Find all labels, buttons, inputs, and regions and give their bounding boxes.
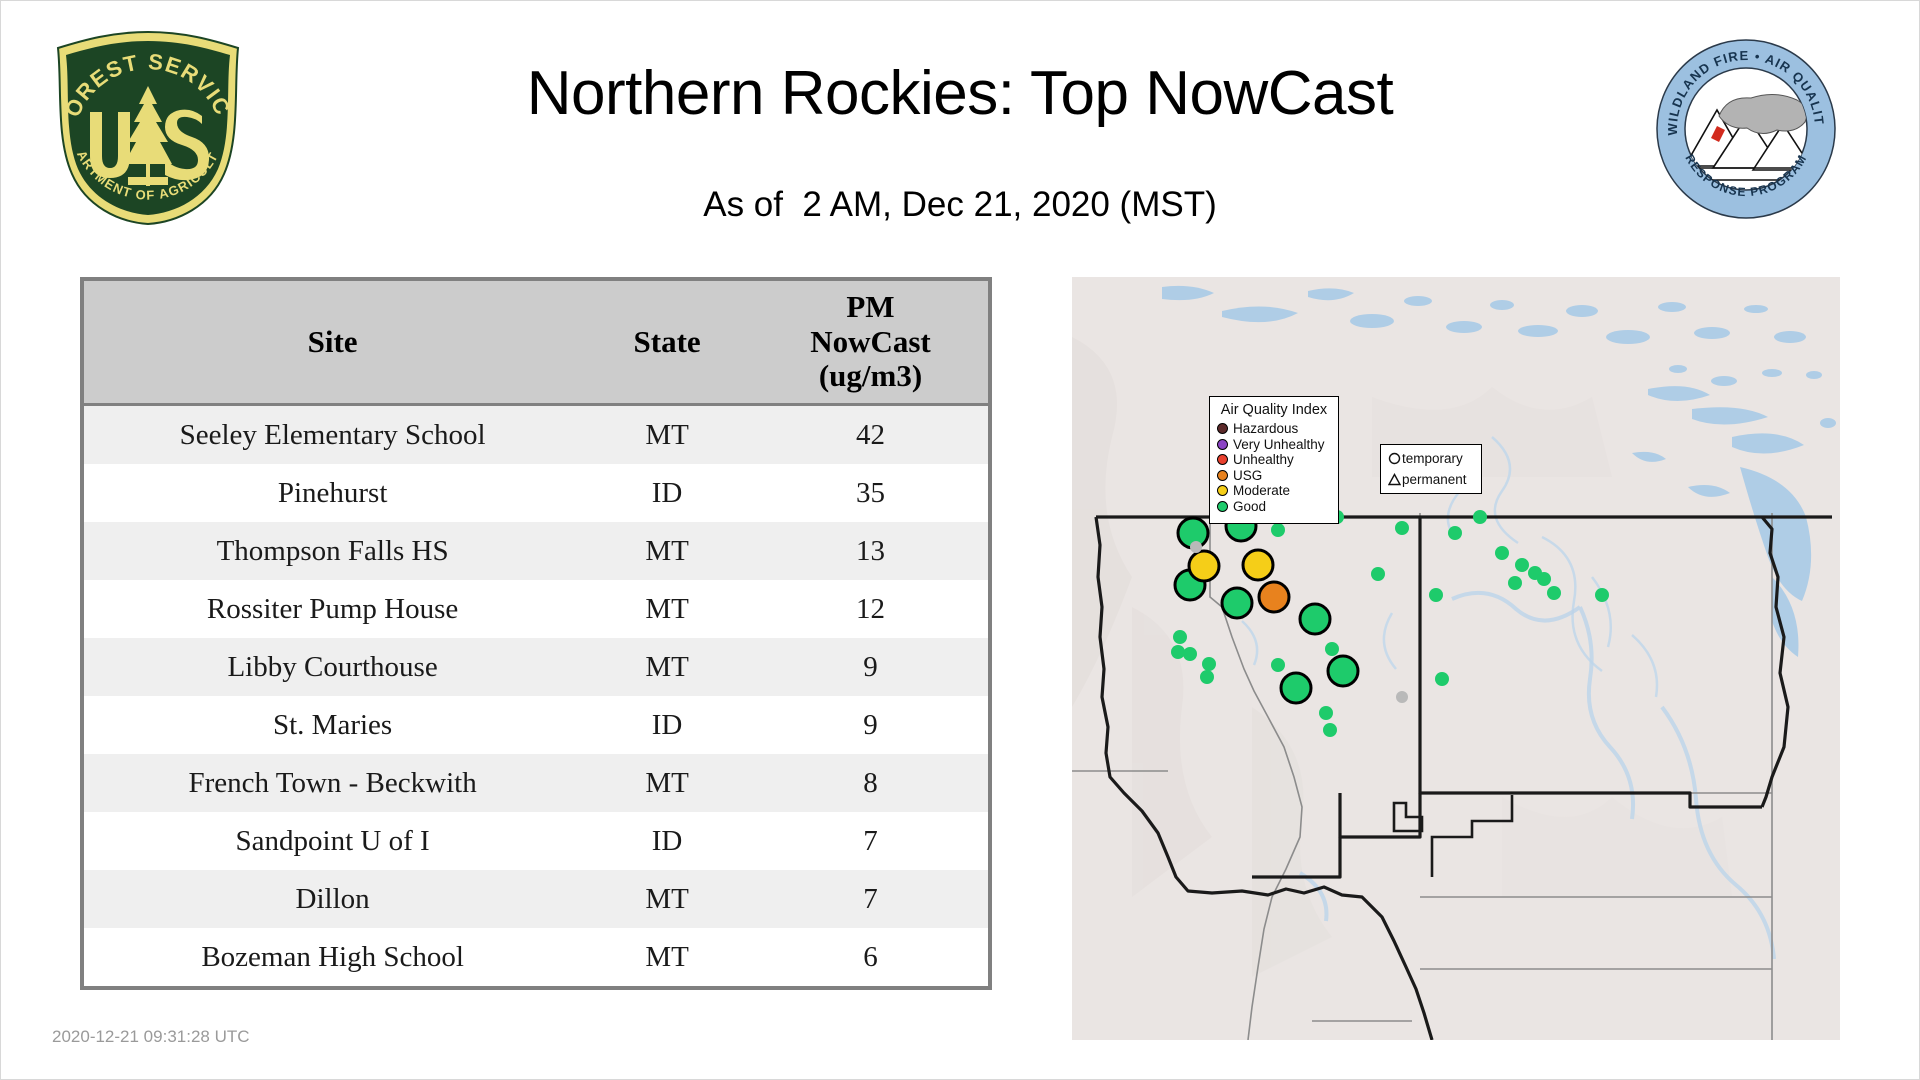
aqi-legend-item-hazardous: Hazardous [1217, 421, 1331, 437]
aqi-label-good: Good [1233, 499, 1266, 514]
monitor-label-permanent: permanent [1402, 472, 1467, 487]
column-header-pm-nowcast: PM NowCast (ug/m3) [753, 281, 988, 405]
aqi-swatch-good [1217, 501, 1228, 512]
table-row: St. MariesID9 [84, 696, 988, 754]
cell-state: MT [581, 754, 753, 812]
cell-pm: 13 [753, 522, 988, 580]
cell-state: MT [581, 928, 753, 986]
monitor-marker[interactable] [1202, 657, 1216, 671]
monitor-marker[interactable] [1325, 642, 1339, 656]
column-header-site: Site [84, 281, 581, 405]
cell-pm: 42 [753, 405, 988, 465]
air-quality-map[interactable] [1072, 277, 1840, 1040]
column-header-site-label: Site [308, 324, 358, 359]
monitor-marker[interactable] [1300, 604, 1330, 634]
forest-service-shield-icon: FOREST SERVICE DEPARTMENT OF AGRICULTURE [52, 28, 244, 228]
cell-site: Sandpoint U of I [84, 812, 581, 870]
cell-site: St. Maries [84, 696, 581, 754]
cell-site: Thompson Falls HS [84, 522, 581, 580]
aqi-legend-item-unhealthy: Unhealthy [1217, 452, 1331, 468]
aqi-label-hazardous: Hazardous [1233, 421, 1298, 436]
monitor-marker[interactable] [1323, 723, 1337, 737]
monitor-marker[interactable] [1396, 691, 1408, 703]
aqi-label-moderate: Moderate [1233, 483, 1290, 498]
aqi-swatch-moderate [1217, 485, 1228, 496]
page-subtitle: As of 2 AM, Dec 21, 2020 (MST) [260, 185, 1660, 225]
monitor-marker[interactable] [1508, 576, 1522, 590]
cell-site: Seeley Elementary School [84, 405, 581, 465]
cell-state: MT [581, 870, 753, 928]
cell-site: Libby Courthouse [84, 638, 581, 696]
aqi-label-usg: USG [1233, 468, 1262, 483]
top-nowcast-table: Site State PM NowCast (ug/m3) Seeley Ele… [84, 281, 988, 986]
table-row: French Town - BeckwithMT8 [84, 754, 988, 812]
cell-site: Bozeman High School [84, 928, 581, 986]
column-header-pm-line1: PM [753, 290, 988, 325]
aqi-swatch-unhealthy [1217, 454, 1228, 465]
monitor-marker[interactable] [1537, 572, 1551, 586]
monitor-marker[interactable] [1183, 647, 1197, 661]
table-row: Thompson Falls HSMT13 [84, 522, 988, 580]
triangle-outline-icon [1386, 473, 1402, 486]
cell-pm: 7 [753, 812, 988, 870]
aqi-legend-item-good: Good [1217, 499, 1331, 515]
monitor-marker[interactable] [1473, 510, 1487, 524]
monitor-marker[interactable] [1259, 582, 1289, 612]
cell-site: French Town - Beckwith [84, 754, 581, 812]
aqi-swatch-very-unhealthy [1217, 439, 1228, 450]
table-row: Rossiter Pump HouseMT12 [84, 580, 988, 638]
cell-pm: 9 [753, 696, 988, 754]
table-row: Sandpoint U of IID7 [84, 812, 988, 870]
monitor-marker[interactable] [1371, 567, 1385, 581]
monitor-legend-item-permanent: permanent [1386, 469, 1477, 490]
table-header: Site State PM NowCast (ug/m3) [84, 281, 988, 405]
cell-state: MT [581, 522, 753, 580]
monitor-marker[interactable] [1515, 558, 1529, 572]
aqi-legend-item-very-unhealthy: Very Unhealthy [1217, 437, 1331, 453]
generated-timestamp: 2020-12-21 09:31:28 UTC [52, 1027, 250, 1047]
monitor-marker[interactable] [1319, 706, 1333, 720]
aqi-swatch-hazardous [1217, 423, 1228, 434]
monitor-marker[interactable] [1189, 551, 1219, 581]
table-row: Libby CourthouseMT9 [84, 638, 988, 696]
map-canvas[interactable] [1072, 277, 1840, 1040]
column-header-state: State [581, 281, 753, 405]
monitor-marker[interactable] [1448, 526, 1462, 540]
monitor-marker[interactable] [1171, 645, 1185, 659]
monitor-label-temporary: temporary [1402, 451, 1463, 466]
monitor-legend-item-temporary: temporary [1386, 448, 1477, 469]
column-header-pm-line2: NowCast [753, 325, 988, 360]
cell-state: MT [581, 580, 753, 638]
monitor-marker[interactable] [1495, 546, 1509, 560]
table-row: Bozeman High SchoolMT6 [84, 928, 988, 986]
cell-site: Dillon [84, 870, 581, 928]
aqi-legend-item-moderate: Moderate [1217, 483, 1331, 499]
column-header-state-label: State [634, 324, 701, 359]
cell-state: MT [581, 405, 753, 465]
table-row: PinehurstID35 [84, 464, 988, 522]
table-row: Seeley Elementary SchoolMT42 [84, 405, 988, 465]
table-row: DillonMT7 [84, 870, 988, 928]
cell-state: MT [581, 638, 753, 696]
cell-pm: 12 [753, 580, 988, 638]
monitor-marker[interactable] [1435, 672, 1449, 686]
monitor-marker[interactable] [1281, 673, 1311, 703]
monitor-marker[interactable] [1547, 586, 1561, 600]
column-header-pm-line3: (ug/m3) [753, 359, 988, 394]
page-title: Northern Rockies: Top NowCast [260, 58, 1660, 129]
cell-state: ID [581, 812, 753, 870]
monitor-marker[interactable] [1429, 588, 1443, 602]
aqi-label-very-unhealthy: Very Unhealthy [1233, 437, 1325, 452]
monitor-type-legend: temporary permanent [1380, 444, 1482, 494]
monitor-marker[interactable] [1328, 656, 1358, 686]
monitor-marker[interactable] [1243, 550, 1273, 580]
monitor-marker[interactable] [1595, 588, 1609, 602]
cell-pm: 7 [753, 870, 988, 928]
aqi-legend-item-usg: USG [1217, 468, 1331, 484]
cell-state: ID [581, 464, 753, 522]
top-nowcast-table-container: Site State PM NowCast (ug/m3) Seeley Ele… [80, 277, 992, 990]
cell-site: Pinehurst [84, 464, 581, 522]
cell-state: ID [581, 696, 753, 754]
monitor-marker[interactable] [1200, 670, 1214, 684]
cell-pm: 35 [753, 464, 988, 522]
monitor-marker[interactable] [1190, 541, 1202, 553]
monitor-marker[interactable] [1271, 658, 1285, 672]
circle-outline-icon [1386, 452, 1402, 465]
monitor-marker[interactable] [1395, 521, 1409, 535]
wildland-fire-air-quality-program-logo: WILDLAND FIRE • AIR QUALITY RESPONSE PRO… [1655, 38, 1837, 220]
table-body: Seeley Elementary SchoolMT42 PinehurstID… [84, 405, 988, 987]
cell-site: Rossiter Pump House [84, 580, 581, 638]
monitor-marker[interactable] [1173, 630, 1187, 644]
wfaqrp-seal-icon: WILDLAND FIRE • AIR QUALITY RESPONSE PRO… [1655, 38, 1837, 220]
aqi-label-unhealthy: Unhealthy [1233, 452, 1294, 467]
table-header-row: Site State PM NowCast (ug/m3) [84, 281, 988, 405]
cell-pm: 9 [753, 638, 988, 696]
air-quality-index-legend: Air Quality Index Hazardous Very Unhealt… [1209, 396, 1339, 524]
aqi-legend-title: Air Quality Index [1217, 402, 1331, 418]
cell-pm: 8 [753, 754, 988, 812]
monitor-marker[interactable] [1222, 588, 1252, 618]
aqi-swatch-usg [1217, 470, 1228, 481]
us-forest-service-logo: FOREST SERVICE DEPARTMENT OF AGRICULTURE [52, 28, 244, 228]
monitor-marker[interactable] [1271, 523, 1285, 537]
cell-pm: 6 [753, 928, 988, 986]
